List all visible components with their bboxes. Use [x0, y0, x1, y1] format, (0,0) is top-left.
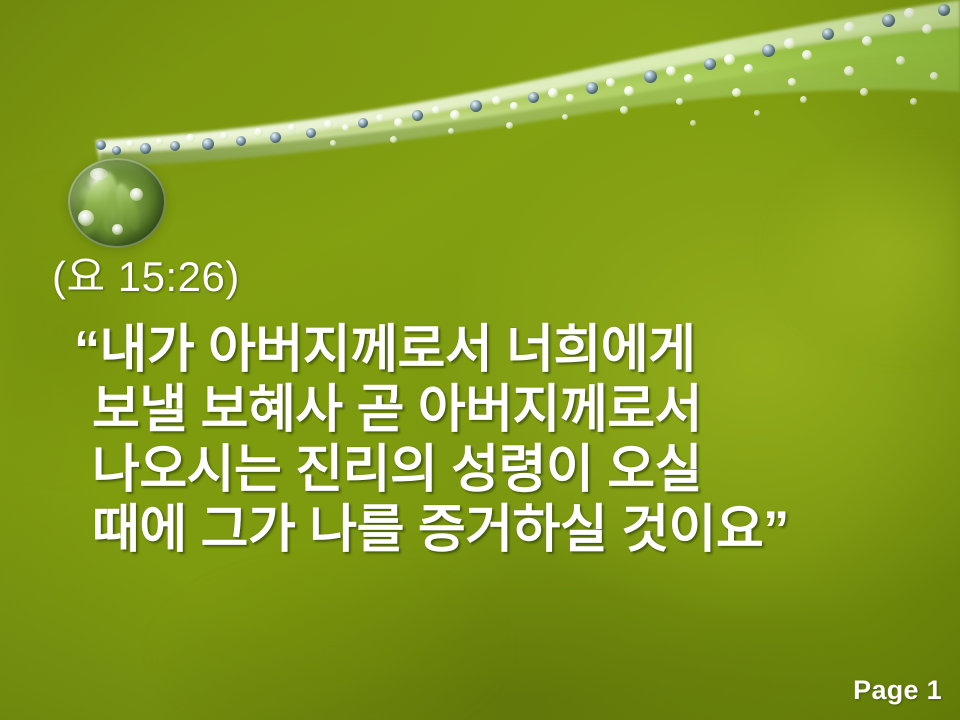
verse-text-block: “내가 아버지께로서 너희에게 보낼 보혜사 곧 아버지께로서 나오시는 진리의… [74, 320, 934, 560]
presentation-slide: (요 15:26) “내가 아버지께로서 너희에게 보낼 보혜사 곧 아버지께로… [0, 0, 960, 720]
page-number: Page 1 [853, 675, 942, 706]
verse-line-3: 나오시는 진리의 성령이 오실 [74, 440, 934, 500]
water-drop [68, 158, 166, 248]
verse-line-4: 때에 그가 나를 증거하실 것이요” [74, 500, 934, 560]
verse-line-1: “내가 아버지께로서 너희에게 [74, 320, 934, 380]
scripture-reference: (요 15:26) [52, 255, 240, 299]
verse-line-2: 보낼 보혜사 곧 아버지께로서 [74, 380, 934, 440]
